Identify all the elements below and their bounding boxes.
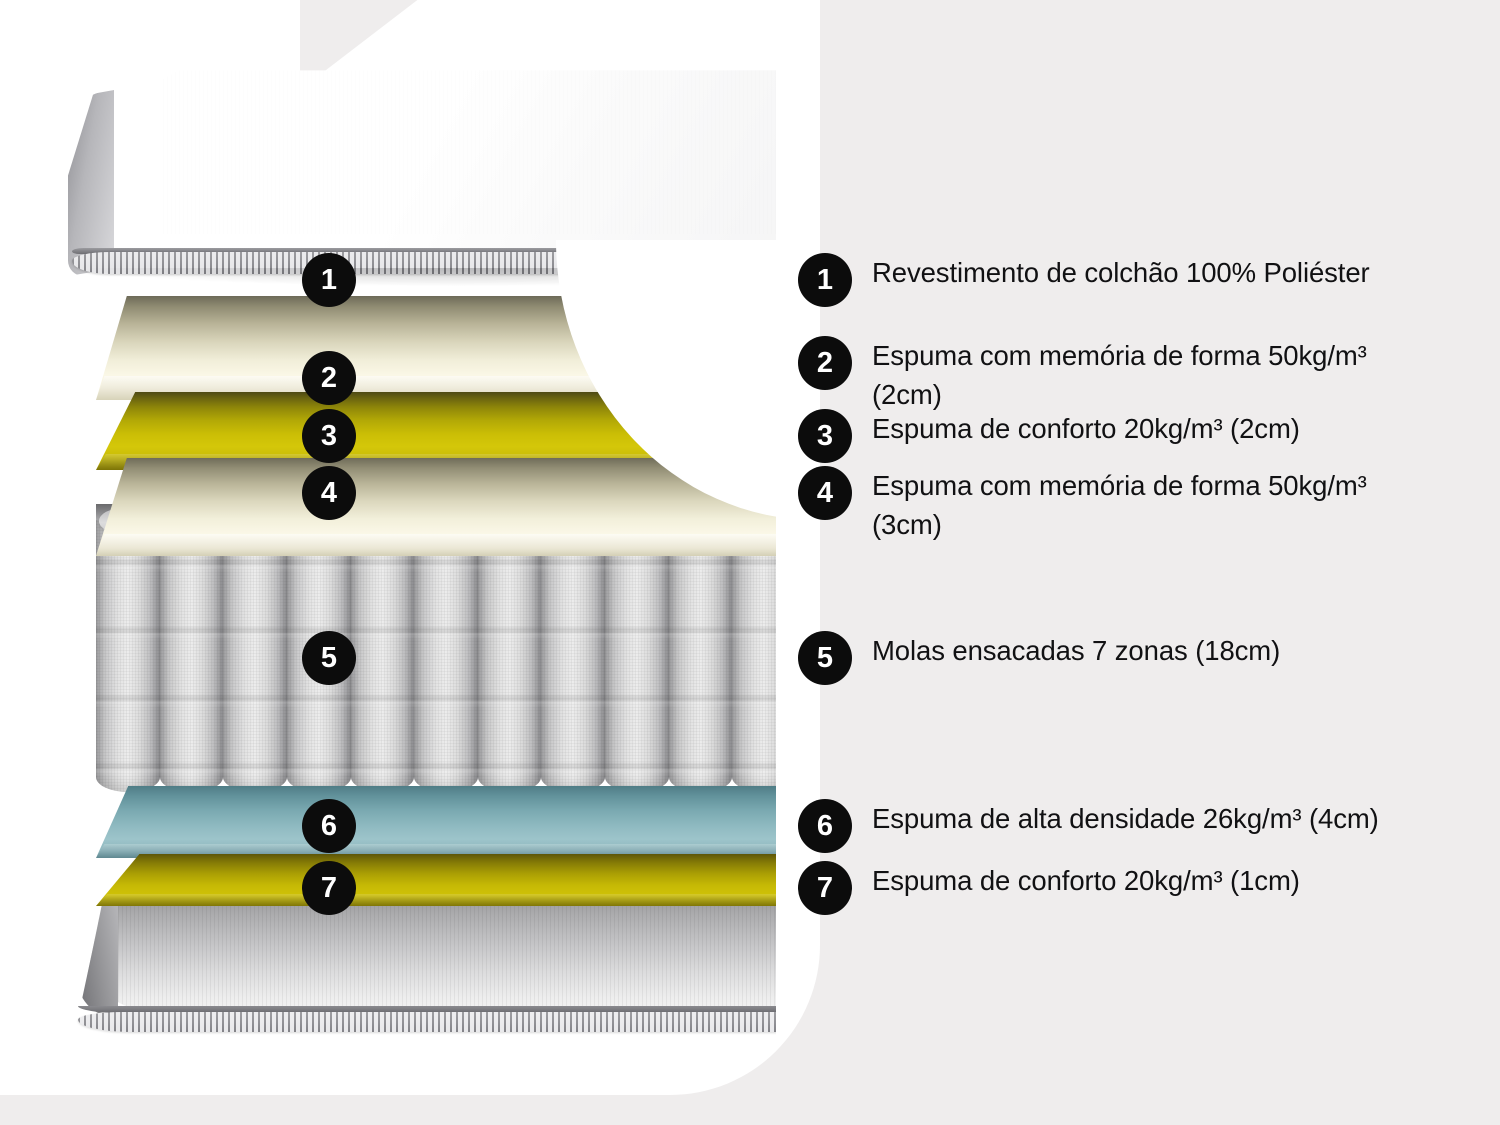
layer-memory-foam-upper [96,296,776,400]
cover-quilt-texture [163,70,776,234]
legend-list: 1 Revestimento de colchão 100% Poliéster… [798,0,1488,1125]
diagram-callout-4: 4 [302,466,356,520]
legend-badge-4: 4 [798,466,852,520]
legend-item-1: 1 Revestimento de colchão 100% Poliéster [798,253,1488,307]
legend-label-3: Espuma de conforto 20kg/m³ (2cm) [872,409,1300,448]
diagram-callout-2: 2 [302,351,356,405]
cover-drop-shadow [92,268,776,286]
legend-item-2: 2 Espuma com memória de forma 50kg/m³ (2… [798,336,1488,414]
legend-label-1: Revestimento de colchão 100% Poliéster [872,253,1370,292]
base-side-wall [78,902,118,1018]
cover-top-surface [72,62,776,272]
legend-item-4: 4 Espuma com memória de forma 50kg/m³ (3… [798,466,1488,544]
layer-base-fabric [78,900,776,1050]
legend-label-6: Espuma de alta densidade 26kg/m³ (4cm) [872,799,1379,838]
legend-badge-1: 1 [798,253,852,307]
legend-label-4: Espuma com memória de forma 50kg/m³ (3cm… [872,466,1412,544]
diagram-callout-6: 6 [302,799,356,853]
legend-item-7: 7 Espuma de conforto 20kg/m³ (1cm) [798,861,1488,915]
diagram-callout-3: 3 [302,409,356,463]
diagram-callout-5: 5 [302,631,356,685]
memory-foam-lower-bevel [96,534,776,556]
legend-item-6: 6 Espuma de alta densidade 26kg/m³ (4cm) [798,799,1488,853]
legend-badge-3: 3 [798,409,852,463]
legend-badge-6: 6 [798,799,852,853]
layer-high-density-foam [96,786,776,858]
legend-label-7: Espuma de conforto 20kg/m³ (1cm) [872,861,1300,900]
base-fabric-face [78,900,776,1020]
layer-comfort-foam-lower [96,854,776,906]
legend-item-3: 3 Espuma de conforto 20kg/m³ (2cm) [798,409,1488,463]
legend-badge-5: 5 [798,631,852,685]
legend-label-2: Espuma com memória de forma 50kg/m³ (2cm… [872,336,1412,414]
legend-badge-2: 2 [798,336,852,390]
comfort-foam-lower-bevel [96,894,776,906]
legend-label-5: Molas ensacadas 7 zonas (18cm) [872,631,1280,670]
legend-badge-7: 7 [798,861,852,915]
mattress-cutaway-illustration [0,0,776,1060]
layer-memory-foam-lower [96,458,776,556]
diagram-callout-7: 7 [302,861,356,915]
base-piping-trim [78,1012,776,1032]
layer-mattress-cover [72,62,776,300]
diagram-callout-1: 1 [302,253,356,307]
mattress-layers-infographic: 1 2 3 4 5 6 7 1 Revestimento de colchão … [0,0,1500,1125]
legend-item-5: 5 Molas ensacadas 7 zonas (18cm) [798,631,1488,685]
